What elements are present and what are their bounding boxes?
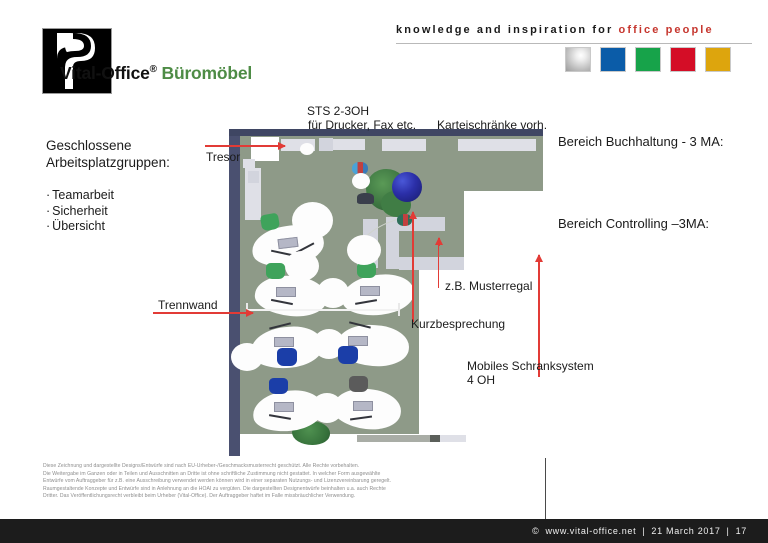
- monitor-2b: [353, 401, 373, 411]
- tagline-plain: knowledge and inspiration for: [396, 24, 619, 36]
- label-sts-line1: STS 2-3OH: [307, 104, 369, 118]
- list-item: Sicherheit: [46, 204, 221, 220]
- cabinet-karteischraenke: [458, 139, 536, 151]
- label-bereich-controlling: Bereich Controlling –3MA:: [558, 217, 709, 231]
- label-schranksystem-line1: Mobiles Schranksystem: [467, 359, 594, 373]
- pod-mid-upper: [285, 251, 319, 281]
- label-tresor: Tresor: [206, 150, 240, 164]
- footer-website[interactable]: www.vital-office.net: [545, 526, 636, 536]
- wordmark-main: Vital-Office: [60, 63, 150, 83]
- footer-divider: [545, 458, 546, 519]
- header-divider: [396, 43, 752, 44]
- swatch-blue: [600, 47, 626, 72]
- dimension-tick-right: [398, 303, 400, 316]
- tagline: knowledge and inspiration for office peo…: [396, 24, 714, 36]
- cabinet-run-b: [382, 139, 426, 151]
- label-kurzbesprechung: Kurzbesprechung: [411, 317, 505, 331]
- cabinet-tresor: [251, 137, 279, 161]
- left-heading-line1: Geschlossene: [46, 138, 221, 155]
- list-item: Übersicht: [46, 219, 221, 235]
- wordmark-sub: Büromöbel: [162, 63, 253, 83]
- swatch-red: [670, 47, 696, 72]
- footer-separator-1: |: [642, 526, 645, 536]
- label-trennwand: Trennwand: [158, 298, 218, 312]
- vital-office-logo-mark: [42, 28, 112, 94]
- registered-icon: ®: [150, 64, 157, 75]
- chair-top-dark: [357, 193, 374, 204]
- cabinet-run-a: [333, 139, 365, 150]
- counter-bottom-pale: [440, 435, 466, 442]
- monitor-3b: [360, 286, 380, 296]
- left-heading-line2: Arbeitsplatzgruppen:: [46, 155, 221, 172]
- cabinet-left-small: [243, 159, 255, 168]
- slide-canvas: Vital-Office® Büromöbel knowledge and in…: [0, 0, 768, 543]
- counter-bottom: [357, 435, 430, 442]
- footer-separator-2: |: [727, 526, 730, 536]
- legal-line-5: Dritter. Das Veröffentlichungsrecht verb…: [43, 493, 538, 501]
- label-bereich-buchhaltung: Bereich Buchhaltung - 3 MA:: [558, 135, 723, 149]
- wall-left: [229, 129, 240, 456]
- arrow-trennwand: [153, 312, 253, 314]
- decor-sphere: [392, 172, 422, 202]
- label-schranksystem-line2: 4 OH: [467, 373, 495, 387]
- chair-2-gray: [349, 376, 368, 392]
- arrow-kurzbesprechung: [412, 212, 414, 322]
- label-sts-line2: für Drucker, Fax etc.: [308, 118, 416, 132]
- dimension-line-trennwand: [246, 309, 399, 311]
- arrow-tresor: [205, 145, 285, 147]
- left-bullet-list: Teamarbeit Sicherheit Übersicht: [46, 188, 221, 235]
- legal-line-4: Raumgestaltende Konzepte und Entwürfe si…: [43, 486, 538, 494]
- floor-notch-upper-right: [464, 191, 543, 271]
- footer-page-number: 17: [736, 526, 747, 536]
- chair-4b-blue: [338, 346, 358, 364]
- pod-top: [300, 143, 314, 155]
- arrow-musterregal-head: [438, 238, 440, 246]
- label-musterregal: z.B. Musterregal: [445, 279, 532, 293]
- pod-person-top: [352, 173, 370, 189]
- swatch-silver: [565, 47, 591, 72]
- swatch-gold: [705, 47, 731, 72]
- legal-disclaimer: Diese Zeichnung und dargestellte Designs…: [43, 463, 538, 501]
- desk-2-pod: [311, 393, 343, 423]
- monitor-3a: [276, 287, 296, 297]
- pod-mid-upper-2: [347, 235, 381, 265]
- footer-date: 21 March 2017: [651, 526, 720, 536]
- cabinet-printer: [319, 138, 333, 151]
- left-feature-list: Geschlossene Arbeitsplatzgruppen: Teamar…: [46, 138, 221, 235]
- desk-3-pod: [317, 278, 349, 308]
- monitor-4a: [274, 337, 294, 347]
- monitor-4b: [348, 336, 368, 346]
- monitor-2a: [274, 402, 294, 412]
- legal-line-3: Entwürfe vom Auftraggeber für z.B. eine …: [43, 478, 538, 486]
- desk-4-pod-left: [231, 343, 263, 371]
- desk-1-pod: [292, 202, 333, 239]
- footer-meta: ©www.vital-office.net|21 March 2017|17: [529, 526, 750, 536]
- copyright-icon: ©: [532, 526, 539, 536]
- chair-4a-blue: [277, 348, 297, 366]
- counter-bottom-end: [430, 435, 440, 442]
- chair-2-blue: [269, 378, 288, 394]
- logo-wordmark: Vital-Office® Büromöbel: [60, 63, 252, 84]
- tagline-accent: office people: [619, 24, 714, 36]
- list-item: Teamarbeit: [46, 188, 221, 204]
- swatch-green: [635, 47, 661, 72]
- label-karteischraenke: Karteischränke vorh.: [437, 118, 547, 132]
- cabinet-left-drawer: [248, 171, 259, 183]
- legal-line-2: Die Weitergabe im Ganzen oder in Teilen …: [43, 471, 538, 479]
- chair-3a-green: [266, 263, 285, 279]
- brand-swatch-row: [565, 47, 731, 72]
- legal-line-1: Diese Zeichnung und dargestellte Designs…: [43, 463, 538, 471]
